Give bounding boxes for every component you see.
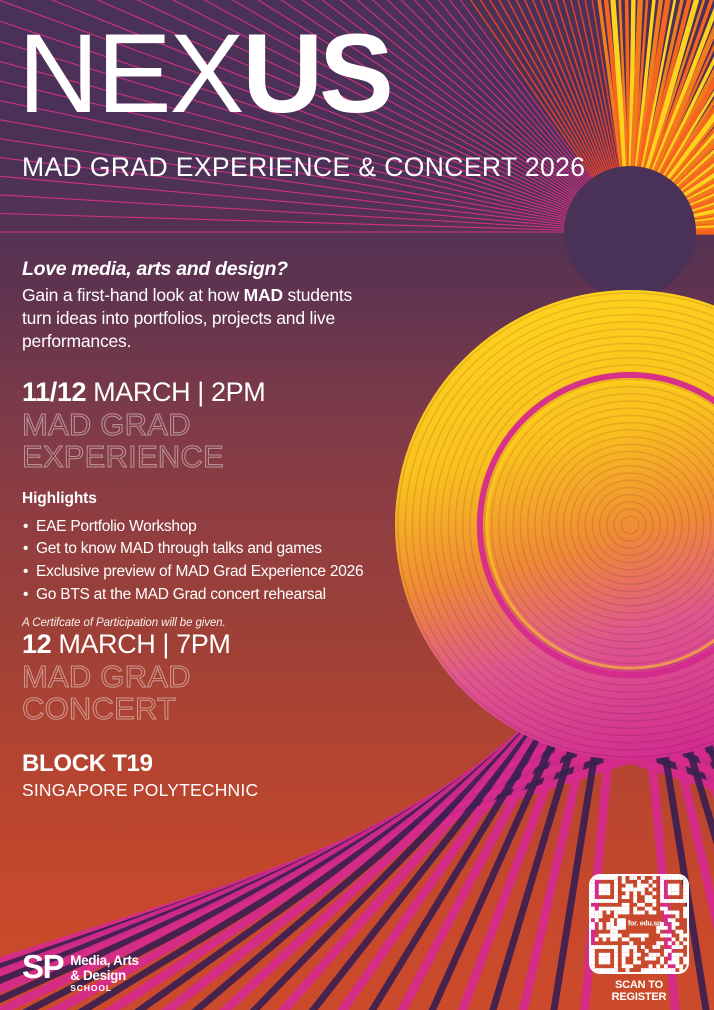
qr-panel[interactable]: for. edu.sg SCAN TO REGISTER [589, 874, 689, 1003]
certificate-note: A Certifcate of Participation will be gi… [22, 617, 363, 629]
intro-question: Love media, arts and design? [22, 258, 382, 281]
title-main: NEX [18, 11, 242, 136]
intro-block: Love media, arts and design? Gain a firs… [22, 258, 382, 353]
qr-code-image[interactable]: for. edu.sg [589, 874, 689, 974]
event-date-concert: 12 [22, 629, 51, 659]
book-icon [617, 919, 626, 930]
event-date-experience: 11/12 [22, 377, 86, 407]
highlights-label: Highlights [22, 490, 363, 508]
title-accent: US [242, 11, 390, 136]
venue-institution: SINGAPORE POLYTECHNIC [22, 780, 258, 801]
sp-logo-text: Media, Arts & Design SCHOOL [70, 952, 138, 993]
poster: NEXUS MAD GRAD EXPERIENCE & CONCERT 2026… [0, 0, 714, 1010]
poster-subtitle: MAD GRAD EXPERIENCE & CONCERT 2026 [22, 152, 585, 183]
venue-block: BLOCK T19 SINGAPORE POLYTECHNIC [22, 750, 258, 801]
list-item: Exclusive preview of MAD Grad Experience… [22, 561, 363, 584]
event-time-concert: MARCH | 7PM [51, 629, 230, 659]
event-name-experience: MAD GRAD EXPERIENCE [22, 409, 363, 472]
list-item: Get to know MAD through talks and games [22, 538, 363, 561]
event-name-concert: MAD GRAD CONCERT [22, 661, 230, 724]
event-block-experience: 11/12 MARCH | 2PM MAD GRAD EXPERIENCE Hi… [22, 378, 363, 629]
event-time-experience: MARCH | 2PM [86, 377, 265, 407]
sp-logo-line1: Media, Arts [70, 954, 138, 969]
event-datetime-concert: 12 MARCH | 7PM [22, 630, 230, 658]
page-title: NEXUS [18, 22, 390, 125]
intro-body: Gain a first-hand look at how MAD studen… [22, 284, 382, 353]
venue-block-name: BLOCK T19 [22, 750, 258, 778]
list-item: EAE Portfolio Workshop [22, 516, 363, 539]
intro-body-emphasis: MAD [244, 285, 283, 305]
poster-content: NEXUS MAD GRAD EXPERIENCE & CONCERT 2026… [0, 0, 714, 1010]
sp-logo-mark: SP [22, 952, 63, 982]
sp-logo-line2: & Design [70, 969, 138, 984]
event-datetime-experience: 11/12 MARCH | 2PM [22, 378, 363, 406]
sp-logo: SP Media, Arts & Design SCHOOL [22, 952, 139, 993]
qr-badge-text: for. edu.sg [628, 920, 661, 927]
qr-center-badge: for. edu.sg [617, 919, 661, 930]
list-item: Go BTS at the MAD Grad concert rehearsal [22, 584, 363, 607]
highlights-list: EAE Portfolio Workshop Get to know MAD t… [22, 516, 363, 607]
event-block-concert: 12 MARCH | 7PM MAD GRAD CONCERT [22, 630, 230, 725]
intro-body-before: Gain a first-hand look at how [22, 285, 244, 305]
sp-logo-line3: SCHOOL [70, 984, 138, 993]
qr-label: SCAN TO REGISTER [589, 979, 689, 1003]
